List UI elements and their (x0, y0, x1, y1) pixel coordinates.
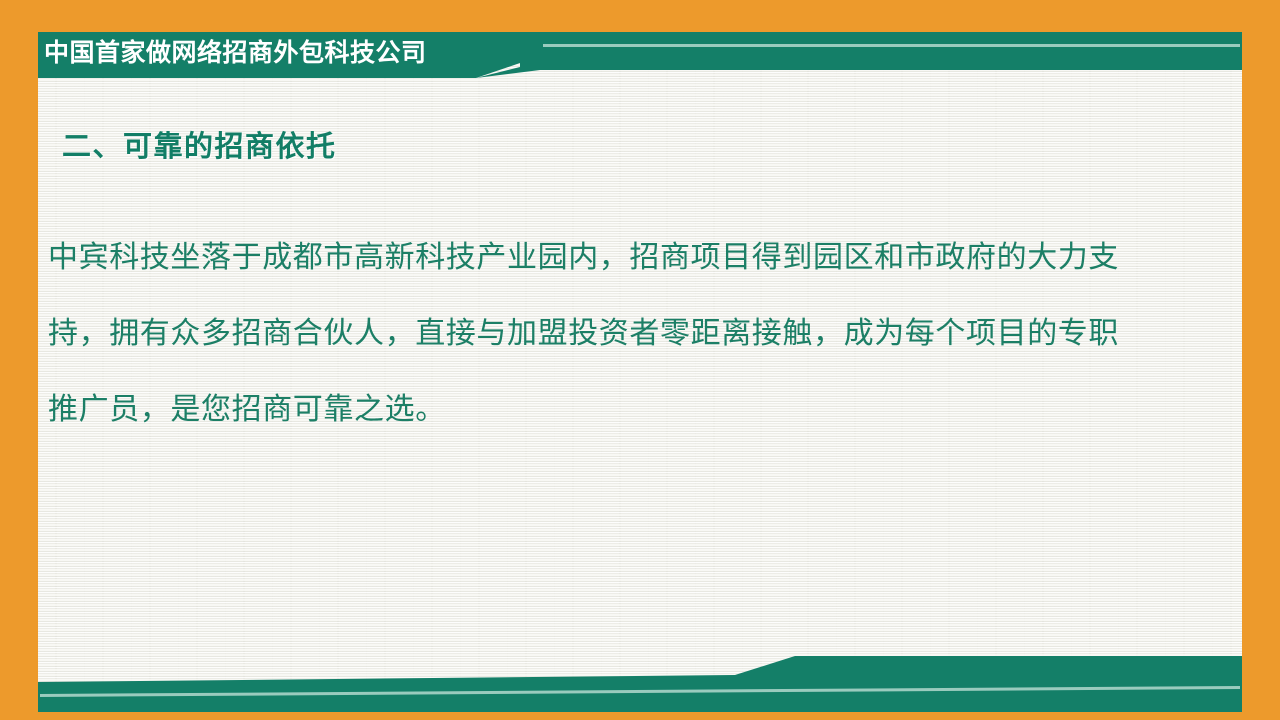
body-line: 推广员，是您招商可靠之选。 (48, 372, 1188, 448)
body-line: 中宾科技坐落于成都市高新科技产业园内，招商项目得到园区和市政府的大力支 (48, 220, 1188, 296)
slide-canvas: 中国首家做网络招商外包科技公司 二、可靠的招商依托 中宾科技坐落于成都市高新科技… (0, 0, 1280, 720)
section-heading: 二、可靠的招商依托 (62, 127, 337, 165)
body-line: 持，拥有众多招商合伙人，直接与加盟投资者零距离接触，成为每个项目的专职 (48, 296, 1188, 372)
body-paragraph: 中宾科技坐落于成都市高新科技产业园内，招商项目得到园区和市政府的大力支 持，拥有… (48, 220, 1188, 448)
slide-content: 二、可靠的招商依托 中宾科技坐落于成都市高新科技产业园内，招商项目得到园区和市政… (38, 92, 1242, 632)
